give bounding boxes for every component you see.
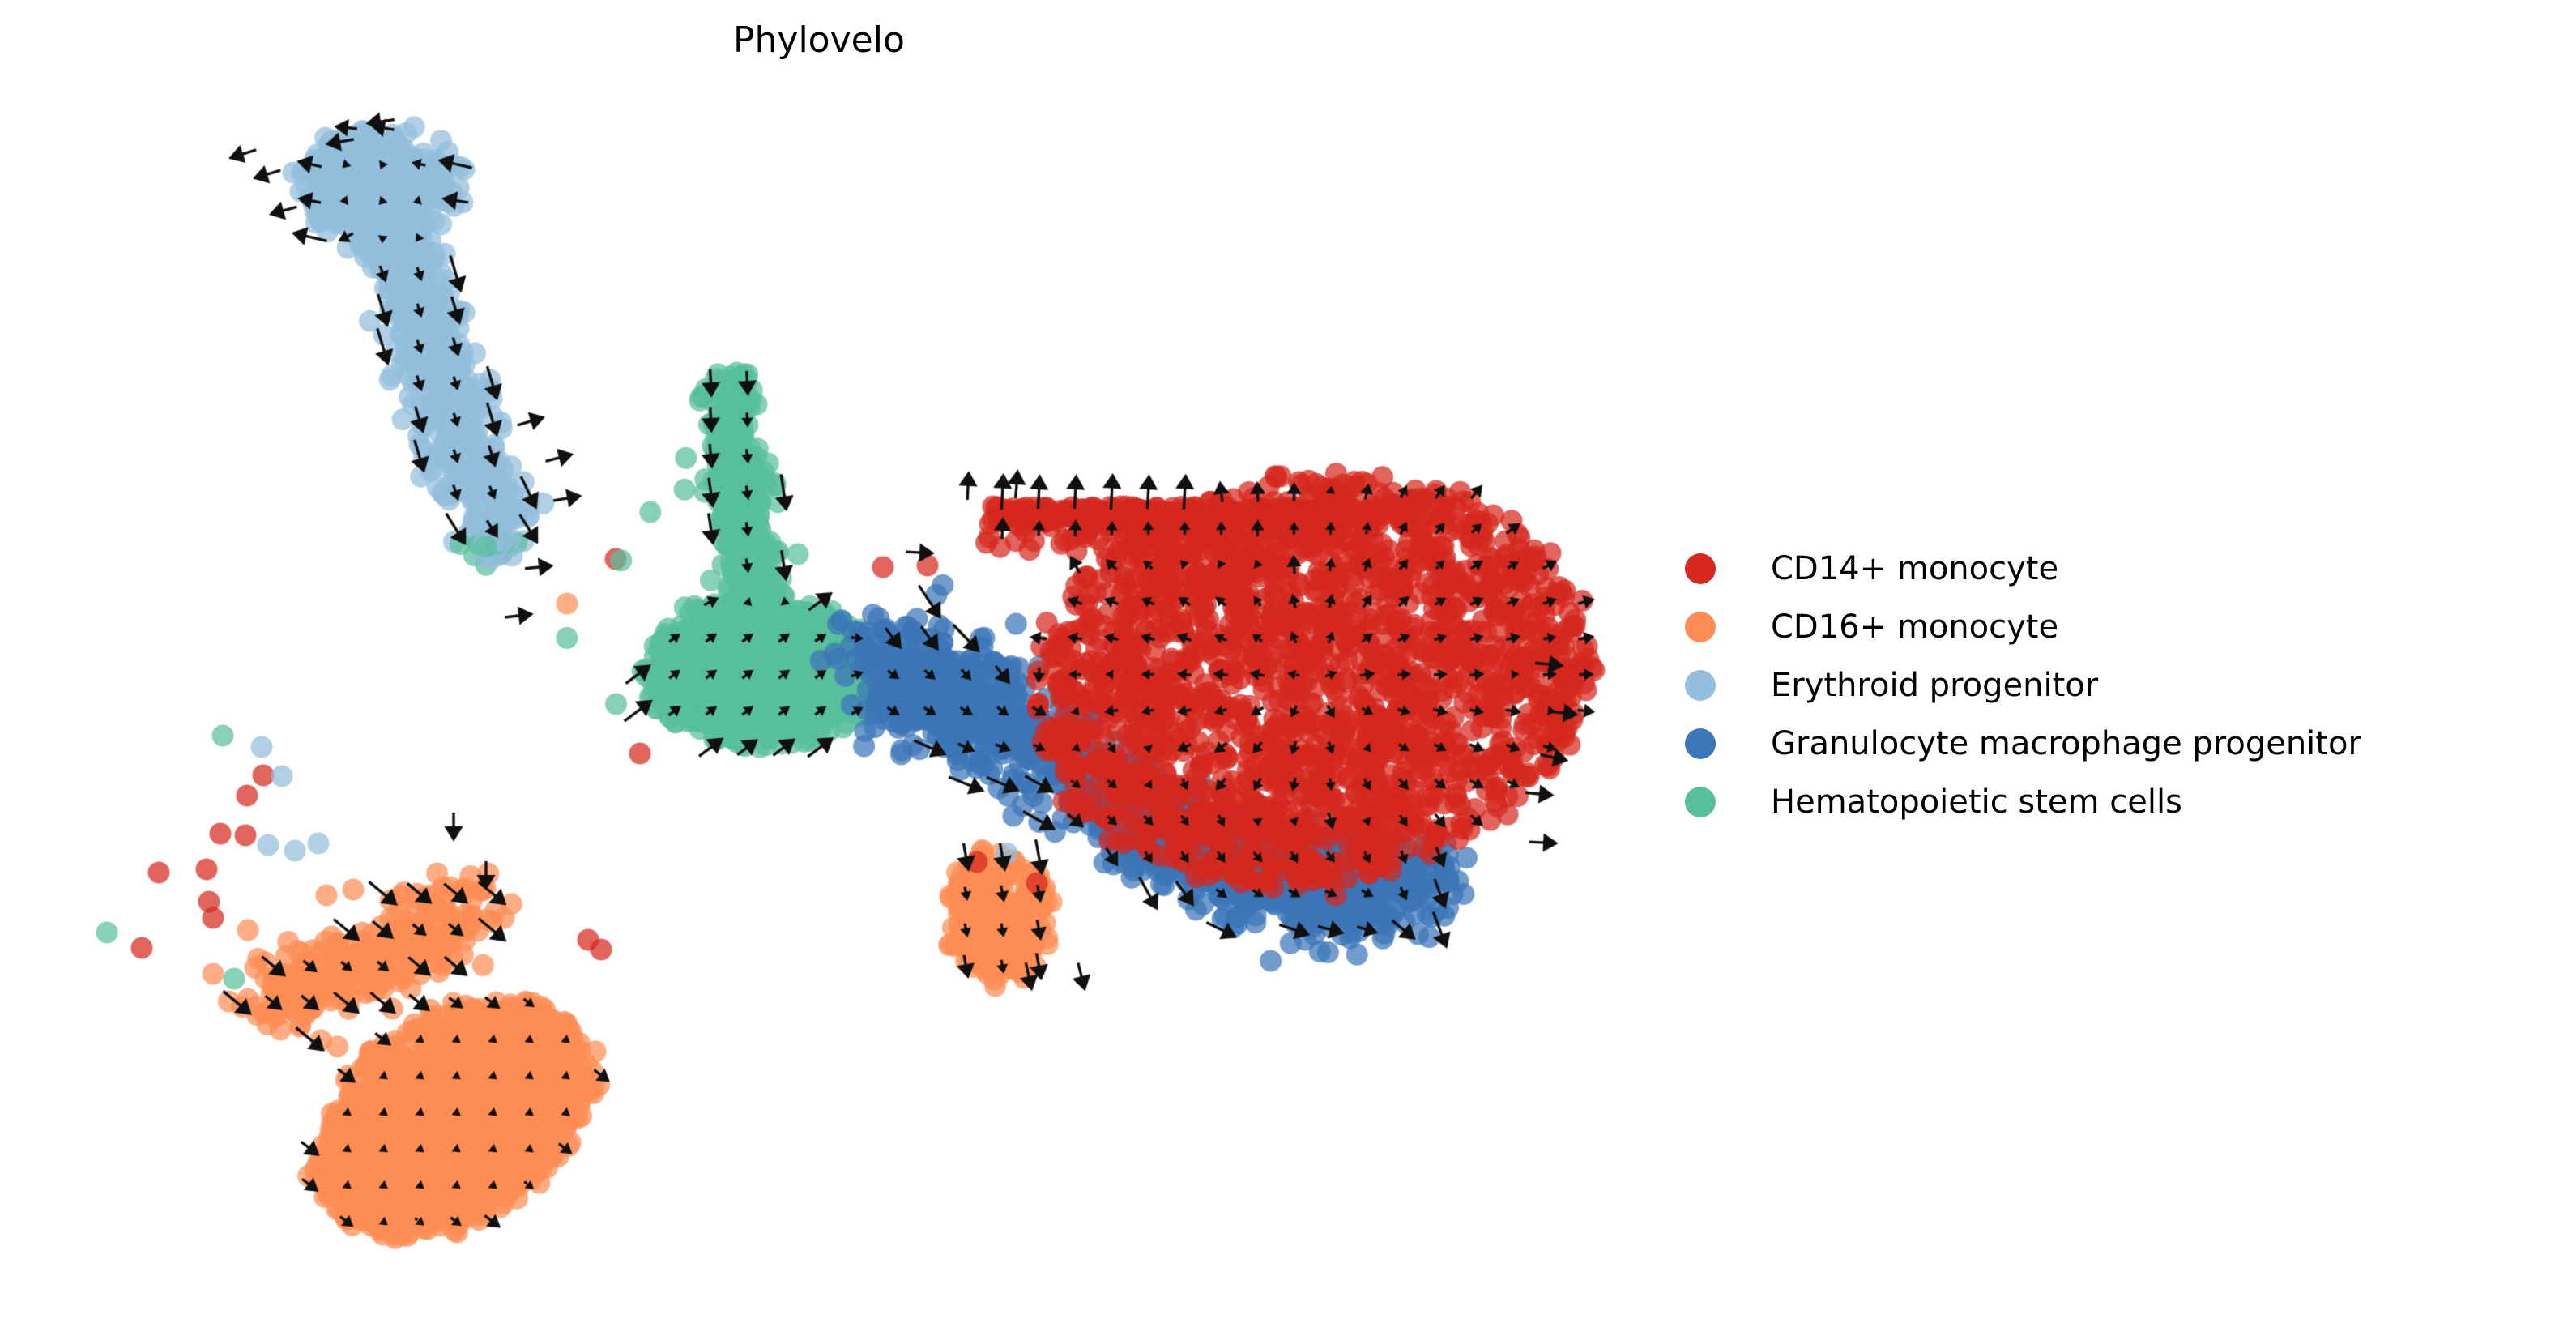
legend-swatch-gmp <box>1685 728 1716 759</box>
legend-item-erythroid-progenitor[interactable]: Erythroid progenitor <box>1685 656 2361 715</box>
legend: CD14+ monocyte CD16+ monocyte Erythroid … <box>1685 540 2361 831</box>
figure-root: Phylovelo CD14+ monocyte CD16+ monocyte … <box>0 0 2576 1323</box>
legend-item-cd16[interactable]: CD16+ monocyte <box>1685 598 2361 656</box>
legend-label-gmp: Granulocyte macrophage progenitor <box>1771 728 2361 760</box>
legend-item-gmp[interactable]: Granulocyte macrophage progenitor <box>1685 715 2361 773</box>
legend-swatch-hsc <box>1685 787 1716 817</box>
legend-label-hsc: Hematopoietic stem cells <box>1771 786 2182 818</box>
legend-label-cd14: CD14+ monocyte <box>1771 553 2058 585</box>
legend-swatch-cd14 <box>1685 553 1716 584</box>
legend-swatch-cd16 <box>1685 612 1716 642</box>
legend-item-hsc[interactable]: Hematopoietic stem cells <box>1685 773 2361 831</box>
legend-swatch-erythroid-progenitor <box>1685 670 1716 701</box>
legend-label-cd16: CD16+ monocyte <box>1771 611 2058 643</box>
legend-label-erythroid-progenitor: Erythroid progenitor <box>1771 669 2098 702</box>
legend-item-cd14[interactable]: CD14+ monocyte <box>1685 540 2361 598</box>
